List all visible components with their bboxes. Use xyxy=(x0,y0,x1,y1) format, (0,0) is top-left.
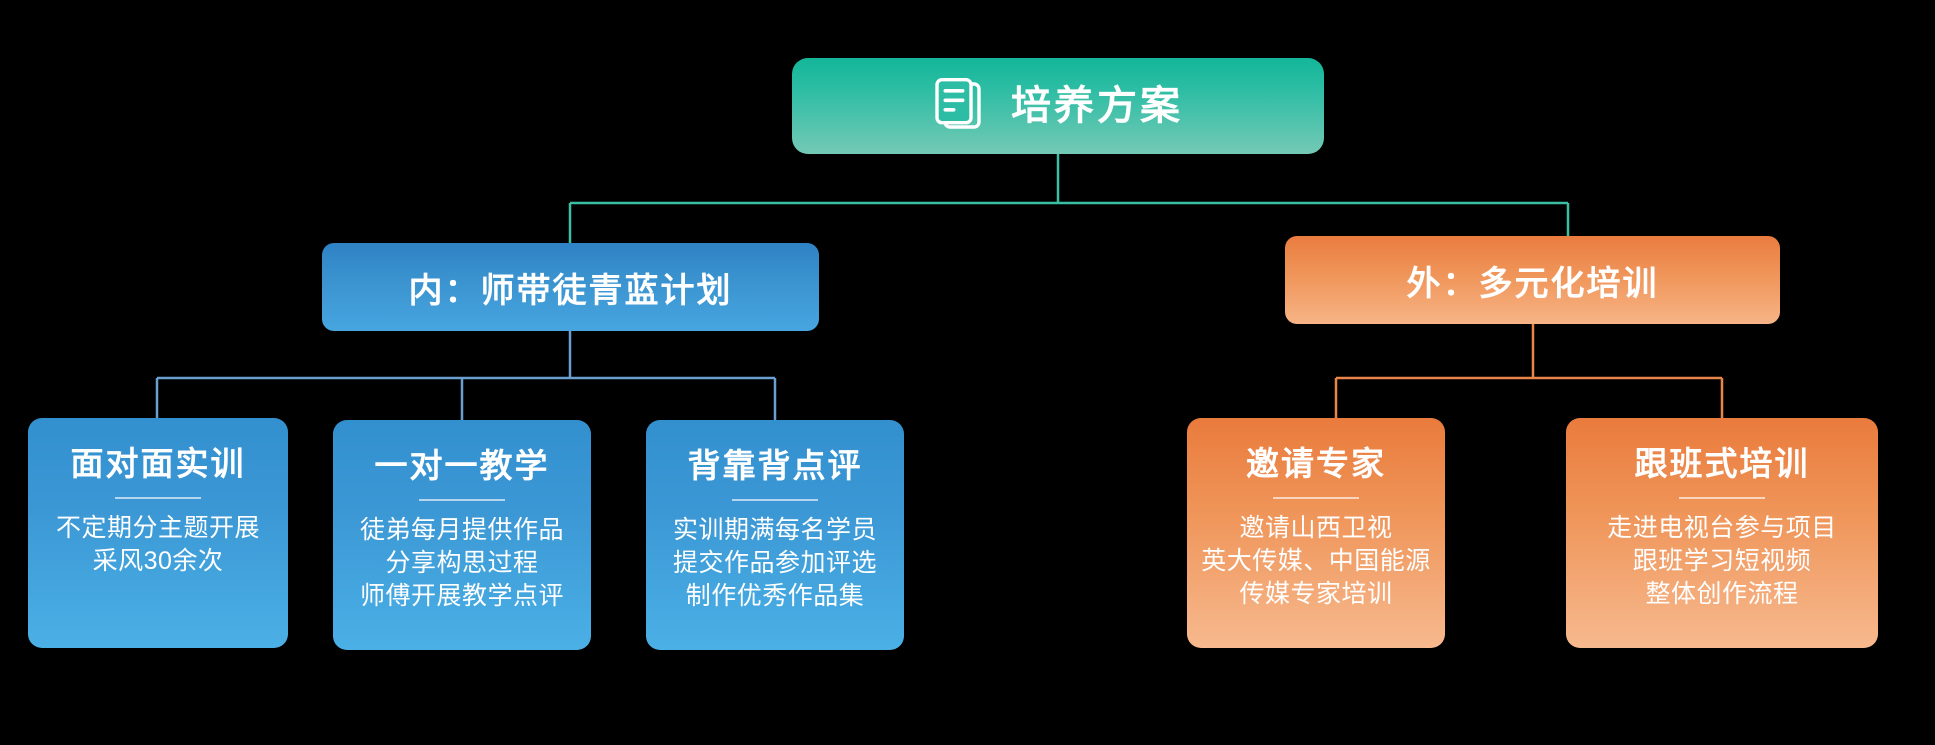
inner-branch-connector xyxy=(157,331,775,420)
leaf-body-line: 传媒专家培训 xyxy=(1201,578,1431,611)
leaf-card-face-to-face-training[interactable]: 面对面实训 不定期分主题开展 采风30余次 xyxy=(28,418,288,648)
leaf-body-line: 不定期分主题开展 xyxy=(56,512,260,545)
leaf-body-line: 制作优秀作品集 xyxy=(673,580,877,613)
leaf-divider xyxy=(115,497,201,499)
branch-node-outer[interactable]: 外：多元化培训 xyxy=(1285,236,1780,324)
leaf-card-one-on-one-teaching[interactable]: 一对一教学 徒弟每月提供作品 分享构思过程 师傅开展教学点评 xyxy=(333,420,591,650)
branch-inner-label: 内：师带徒青蓝计划 xyxy=(409,263,733,312)
leaf-card-invite-experts[interactable]: 邀请专家 邀请山西卫视 英大传媒、中国能源 传媒专家培训 xyxy=(1187,418,1445,648)
leaf-card-on-the-job-training[interactable]: 跟班式培训 走进电视台参与项目 跟班学习短视频 整体创作流程 xyxy=(1566,418,1878,648)
document-icon xyxy=(933,78,985,134)
root-label: 培养方案 xyxy=(1011,86,1183,126)
branch-node-inner[interactable]: 内：师带徒青蓝计划 xyxy=(322,243,819,331)
leaf-title: 面对面实训 xyxy=(71,446,246,483)
root-node[interactable]: 培养方案 xyxy=(792,58,1324,154)
leaf-body: 不定期分主题开展 采风30余次 xyxy=(48,512,268,578)
leaf-body-line: 走进电视台参与项目 xyxy=(1607,512,1837,545)
leaf-body-line: 提交作品参加评选 xyxy=(673,547,877,580)
leaf-title: 邀请专家 xyxy=(1246,446,1386,483)
leaf-title: 跟班式培训 xyxy=(1635,446,1810,483)
leaf-body: 邀请山西卫视 英大传媒、中国能源 传媒专家培训 xyxy=(1193,512,1439,611)
leaf-divider xyxy=(732,499,818,501)
leaf-body-line: 邀请山西卫视 xyxy=(1201,512,1431,545)
leaf-divider xyxy=(1273,497,1359,499)
leaf-body-line: 跟班学习短视频 xyxy=(1607,545,1837,578)
leaf-body: 走进电视台参与项目 跟班学习短视频 整体创作流程 xyxy=(1599,512,1845,611)
leaf-divider xyxy=(1679,497,1765,499)
leaf-body-line: 徒弟每月提供作品 xyxy=(360,514,564,547)
leaf-body: 徒弟每月提供作品 分享构思过程 师傅开展教学点评 xyxy=(352,514,572,613)
leaf-title: 背靠背点评 xyxy=(688,448,863,485)
diagram-canvas: 培养方案 内：师带徒青蓝计划 外：多元化培训 面对面实训 不定期分主题开展 采风… xyxy=(0,0,1935,745)
leaf-body-line: 分享构思过程 xyxy=(360,547,564,580)
leaf-divider xyxy=(419,499,505,501)
leaf-title: 一对一教学 xyxy=(375,448,550,485)
leaf-body: 实训期满每名学员 提交作品参加评选 制作优秀作品集 xyxy=(665,514,885,613)
outer-branch-connector xyxy=(1336,324,1722,418)
leaf-card-back-to-back-review[interactable]: 背靠背点评 实训期满每名学员 提交作品参加评选 制作优秀作品集 xyxy=(646,420,904,650)
root-connector xyxy=(570,154,1568,243)
leaf-body-line: 整体创作流程 xyxy=(1607,578,1837,611)
leaf-body-line: 采风30余次 xyxy=(56,545,260,578)
leaf-body-line: 实训期满每名学员 xyxy=(673,514,877,547)
branch-outer-label: 外：多元化培训 xyxy=(1407,256,1659,305)
leaf-body-line: 英大传媒、中国能源 xyxy=(1201,545,1431,578)
leaf-body-line: 师傅开展教学点评 xyxy=(360,580,564,613)
